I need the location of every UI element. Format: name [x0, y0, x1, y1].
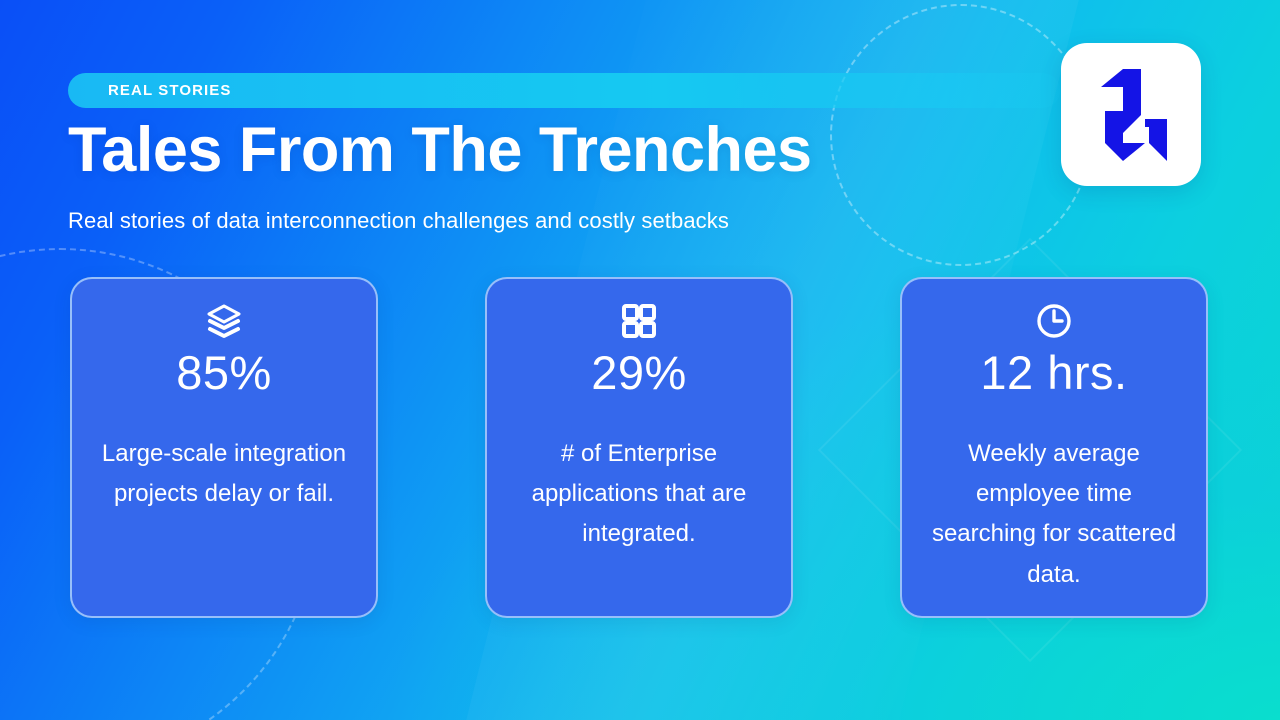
stat-value: 85%: [176, 347, 272, 400]
decorative-dashed-circle: [830, 4, 1092, 266]
stat-label: Large-scale integration projects delay o…: [99, 434, 349, 515]
grid-four-squares-icon: [619, 299, 659, 343]
stat-label: Weekly average employee time searching f…: [929, 434, 1179, 595]
stat-card[interactable]: 85% Large-scale integration projects del…: [70, 277, 378, 618]
layers-icon: [204, 299, 244, 343]
brand-logo-icon: [1089, 67, 1173, 163]
stat-label: # of Enterprise applications that are in…: [514, 434, 764, 555]
stat-value: 29%: [591, 347, 687, 400]
stat-card-group: 85% Large-scale integration projects del…: [0, 277, 1280, 619]
eyebrow-label: REAL STORIES: [108, 82, 232, 99]
clock-icon: [1034, 299, 1074, 343]
stat-value: 12 hrs.: [980, 347, 1127, 400]
stat-card[interactable]: 29% # of Enterprise applications that ar…: [485, 277, 793, 618]
logo-tile: [1061, 43, 1201, 186]
page-subtitle: Real stories of data interconnection cha…: [68, 208, 729, 234]
page-title: Tales From The Trenches: [68, 119, 812, 182]
slide-canvas: REAL STORIES Tales From The Trenches Rea…: [0, 0, 1280, 720]
eyebrow-pill: REAL STORIES: [68, 73, 1060, 108]
stat-card[interactable]: 12 hrs. Weekly average employee time sea…: [900, 277, 1208, 618]
